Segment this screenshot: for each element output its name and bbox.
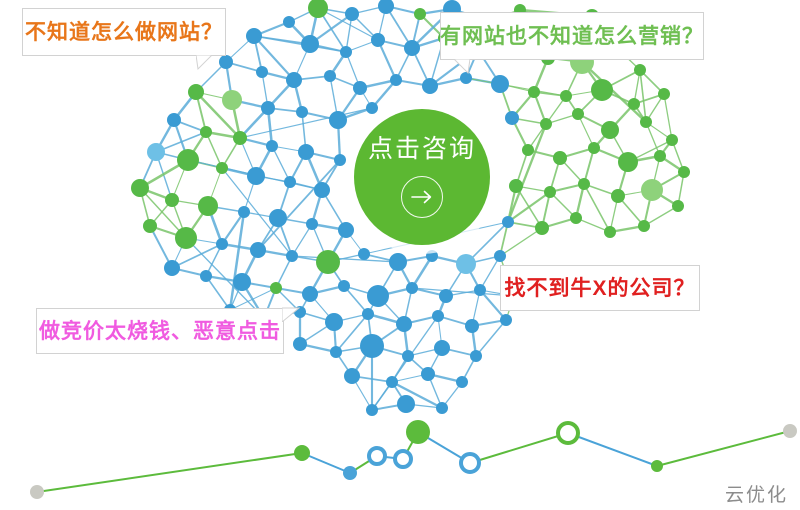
callout-no-website: 不知道怎么做网站？ (22, 8, 226, 56)
promo-banner: 点击咨询 不知道怎么做网站？有网站也不知道怎么营销？找不到牛X的公司？做竞价太烧… (0, 0, 800, 510)
callout-tail-icon (282, 306, 300, 322)
callout-no-marketing: 有网站也不知道怎么营销？ (440, 12, 704, 60)
bottom-timeline-chart (0, 0, 800, 510)
callout-text: 有网站也不知道怎么营销？ (440, 26, 704, 47)
watermark-logo: 云优化 (725, 480, 788, 507)
callout-no-good-company: 找不到牛X的公司？ (500, 265, 700, 311)
callout-ppc-too-costly: 做竞价太烧钱、恶意点击 (36, 308, 284, 354)
callout-text: 不知道怎么做网站？ (25, 22, 223, 43)
cta-label: 点击咨询 (368, 137, 476, 162)
callout-tail-icon (196, 55, 214, 71)
callout-tail-icon (452, 59, 470, 75)
callout-text: 做竞价太烧钱、恶意点击 (39, 321, 281, 342)
callout-text: 找不到牛X的公司？ (504, 278, 695, 299)
arrow-right-icon (401, 176, 443, 218)
consult-cta-button[interactable]: 点击咨询 (354, 109, 490, 245)
